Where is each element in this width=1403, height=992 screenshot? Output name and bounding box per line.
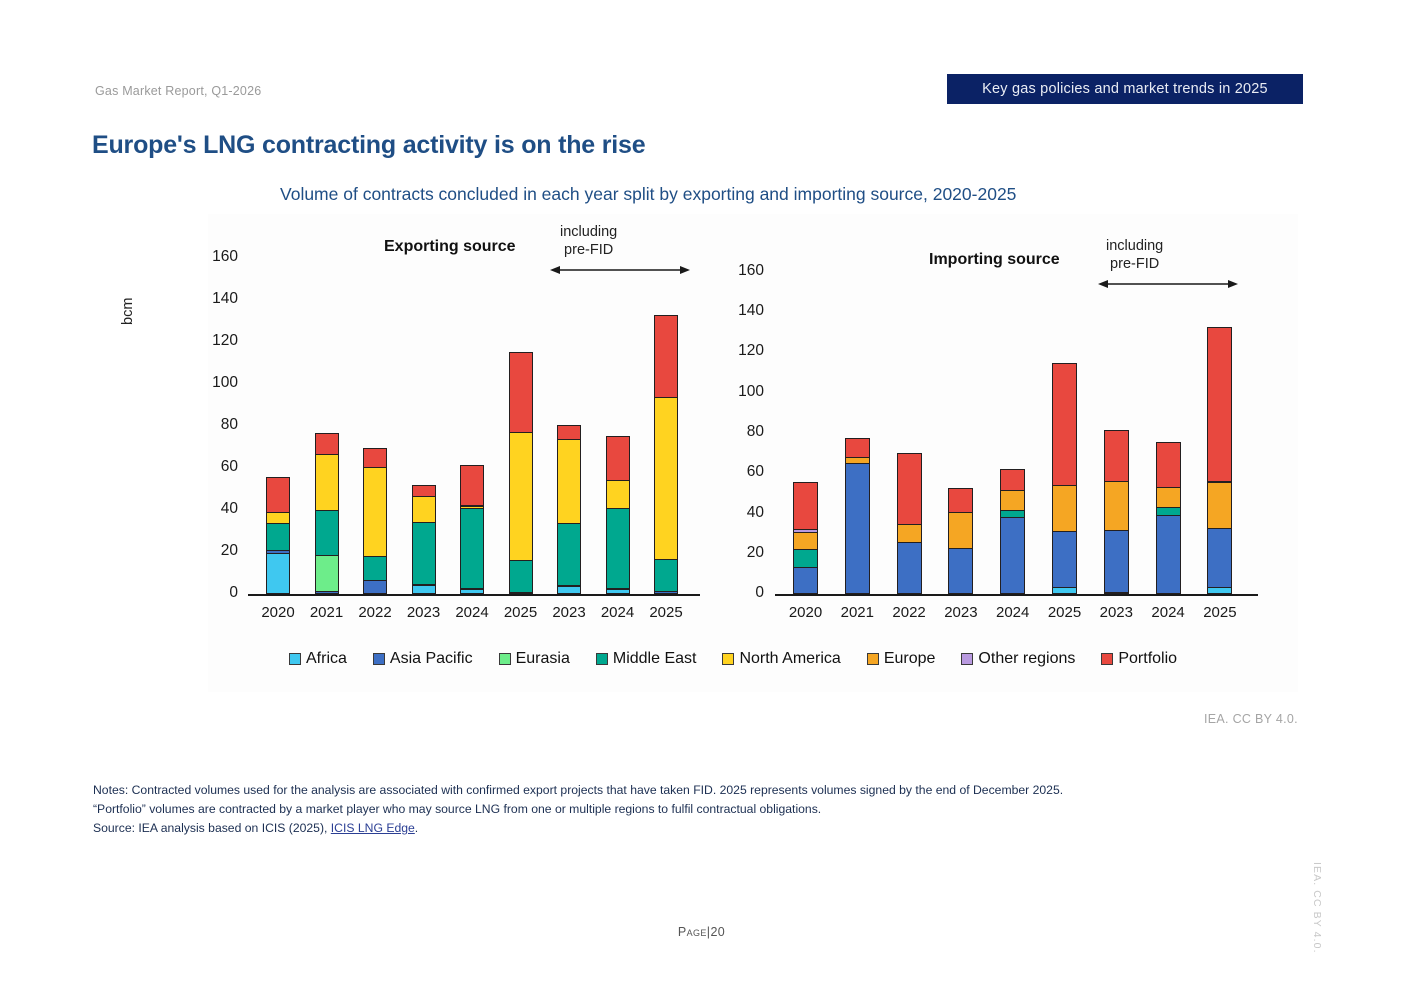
legend-label: Asia Pacific — [390, 650, 473, 668]
ytick-right-100: 100 — [716, 383, 764, 401]
chart-legend: AfricaAsia PacificEurasiaMiddle EastNort… — [289, 650, 1177, 668]
side-cc-note: IEA. CC BY 4.0. — [1311, 862, 1323, 954]
page-number: 20 — [710, 925, 725, 939]
bar-segment-europe — [1000, 490, 1025, 511]
ytick-right-0: 0 — [716, 584, 764, 602]
xtick-importing-0: 2020 — [778, 604, 834, 621]
bar-segment-asia-pacific — [1000, 517, 1025, 594]
legend-swatch-icon — [289, 653, 301, 665]
bar-segment-portfolio — [948, 488, 973, 514]
bar-segment-asia-pacific — [1207, 528, 1232, 588]
ytick-right-40: 40 — [716, 504, 764, 522]
bar-segment-europe — [1052, 485, 1077, 531]
xtick-importing-7: 2024 — [1140, 604, 1196, 621]
xtick-importing-8: 2025 — [1192, 604, 1248, 621]
legend-swatch-icon — [596, 653, 608, 665]
bar-segment-portfolio — [1000, 469, 1025, 492]
ytick-right-160: 160 — [716, 262, 764, 280]
bar-segment-portfolio — [1156, 442, 1181, 488]
legend-label: Other regions — [978, 650, 1075, 668]
legend-swatch-icon — [867, 653, 879, 665]
bar-segment-europe — [1207, 482, 1232, 528]
bar-segment-europe — [1104, 481, 1129, 530]
notes-source-prefix: Source: IEA analysis based on ICIS (2025… — [93, 821, 331, 835]
prefid-label-right: including pre-FID — [1106, 238, 1163, 273]
legend-item-europe[interactable]: Europe — [867, 650, 936, 668]
legend-item-asia-pacific[interactable]: Asia Pacific — [373, 650, 473, 668]
ytick-right-60: 60 — [716, 463, 764, 481]
bar-segment-africa — [1207, 587, 1232, 594]
legend-item-north-america[interactable]: North America — [722, 650, 840, 668]
legend-label: Africa — [306, 650, 347, 668]
cc-note: IEA. CC BY 4.0. — [1204, 712, 1298, 726]
xtick-importing-3: 2023 — [933, 604, 989, 621]
bar-importing-5[interactable] — [1052, 360, 1077, 594]
xtick-importing-4: 2024 — [985, 604, 1041, 621]
bar-segment-portfolio — [793, 482, 818, 529]
legend-item-africa[interactable]: Africa — [289, 650, 347, 668]
legend-item-other-regions[interactable]: Other regions — [961, 650, 1075, 668]
bar-segment-portfolio — [1207, 327, 1232, 482]
xtick-importing-1: 2021 — [829, 604, 885, 621]
ytick-right-80: 80 — [716, 423, 764, 441]
bar-segment-africa — [1104, 592, 1129, 594]
icis-lng-edge-link[interactable]: ICIS LNG Edge — [331, 821, 415, 835]
legend-swatch-icon — [722, 653, 734, 665]
bar-importing-0[interactable] — [793, 478, 818, 594]
bar-segment-asia-pacific — [1104, 530, 1129, 593]
legend-swatch-icon — [499, 653, 511, 665]
bar-segment-asia-pacific — [1156, 515, 1181, 594]
bar-segment-portfolio — [1052, 363, 1077, 486]
chart-importing-source: Importing source including pre-FID 160 1… — [0, 0, 1403, 992]
ytick-right-140: 140 — [716, 302, 764, 320]
bar-segment-portfolio — [845, 438, 870, 458]
prefid-line2-right: pre-FID — [1110, 256, 1159, 272]
legend-label: Middle East — [613, 650, 697, 668]
legend-label: Europe — [884, 650, 936, 668]
bar-segment-europe — [948, 512, 973, 548]
legend-label: Portfolio — [1118, 650, 1177, 668]
page-label: Page — [678, 925, 707, 939]
bar-importing-8[interactable] — [1207, 323, 1232, 594]
xtick-importing-6: 2023 — [1088, 604, 1144, 621]
bar-segment-europe — [1156, 487, 1181, 508]
bar-segment-europe — [793, 532, 818, 550]
bar-segment-portfolio — [897, 453, 922, 524]
bar-importing-3[interactable] — [948, 486, 973, 594]
legend-label: North America — [739, 650, 840, 668]
legend-item-middle-east[interactable]: Middle East — [596, 650, 697, 668]
bar-segment-asia-pacific — [793, 567, 818, 594]
legend-item-eurasia[interactable]: Eurasia — [499, 650, 570, 668]
slide-page: Gas Market Report, Q1-2026 Key gas polic… — [0, 0, 1403, 992]
bar-segment-europe — [897, 524, 922, 543]
bar-segment-asia-pacific — [897, 542, 922, 594]
notes-line-1: Notes: Contracted volumes used for the a… — [93, 781, 1323, 800]
legend-swatch-icon — [1101, 653, 1113, 665]
x-axis-line-right — [775, 594, 1258, 596]
bar-segment-asia-pacific — [1052, 531, 1077, 588]
xtick-importing-5: 2025 — [1037, 604, 1093, 621]
legend-label: Eurasia — [516, 650, 570, 668]
bar-segment-asia-pacific — [845, 463, 870, 594]
legend-item-portfolio[interactable]: Portfolio — [1101, 650, 1177, 668]
bar-importing-2[interactable] — [897, 451, 922, 594]
prefid-arrow-right — [1098, 276, 1238, 292]
legend-swatch-icon — [373, 653, 385, 665]
bar-segment-portfolio — [1104, 430, 1129, 482]
bar-segment-africa — [1052, 587, 1077, 594]
bar-importing-1[interactable] — [845, 436, 870, 594]
notes-block: Notes: Contracted volumes used for the a… — [93, 781, 1323, 838]
ytick-right-120: 120 — [716, 342, 764, 360]
bar-importing-7[interactable] — [1156, 439, 1181, 594]
legend-swatch-icon — [961, 653, 973, 665]
notes-source-line: Source: IEA analysis based on ICIS (2025… — [93, 819, 1323, 838]
notes-source-suffix: . — [415, 821, 418, 835]
panel-heading-importing: Importing source — [929, 251, 1060, 269]
page-footer: Page|20 — [0, 925, 1403, 939]
notes-line-2: “Portfolio” volumes are contracted by a … — [93, 800, 1323, 819]
bar-segment-middle-east — [793, 549, 818, 568]
bar-importing-4[interactable] — [1000, 466, 1025, 594]
bar-importing-6[interactable] — [1104, 428, 1129, 594]
bar-segment-asia-pacific — [948, 548, 973, 594]
prefid-line1-right: including — [1106, 238, 1163, 254]
xtick-importing-2: 2022 — [881, 604, 937, 621]
ytick-right-20: 20 — [716, 544, 764, 562]
